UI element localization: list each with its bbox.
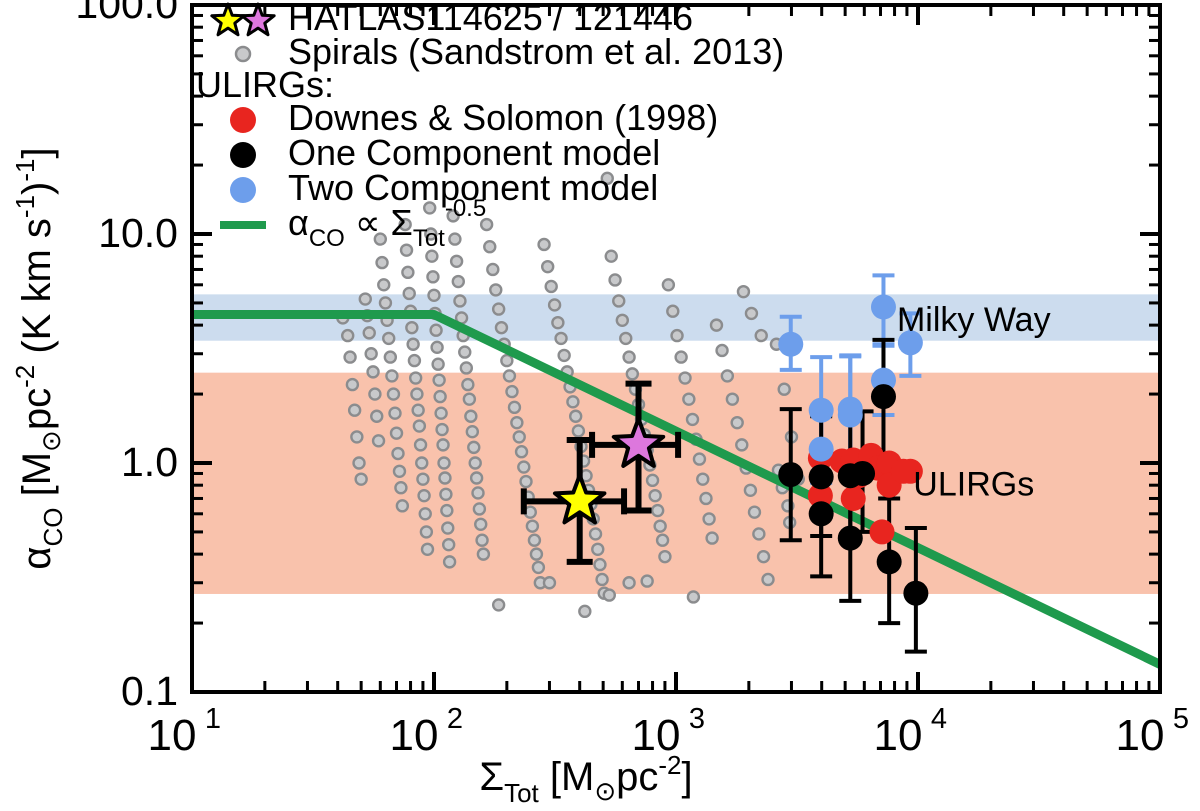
spiral-point	[606, 251, 617, 262]
y-tick-label: 0.1	[121, 668, 178, 714]
x-tick-label: 105	[1116, 703, 1190, 760]
spiral-point	[779, 384, 790, 395]
legend-star-magenta-icon	[242, 4, 274, 35]
spiral-point	[402, 267, 413, 278]
spiral-point	[610, 274, 621, 285]
spiral-point	[453, 276, 464, 287]
spiral-point	[487, 264, 498, 275]
spiral-point	[416, 458, 427, 469]
band-label-milky-way: Milky Way	[897, 301, 1051, 339]
spiral-point	[676, 352, 687, 363]
legend-circle-icon	[230, 142, 256, 168]
spiral-point	[345, 352, 356, 363]
data-point	[809, 437, 834, 462]
spiral-point	[700, 493, 711, 504]
spiral-point	[462, 379, 473, 390]
spiral-point	[360, 294, 371, 305]
spiral-point	[437, 424, 448, 435]
spiral-point	[470, 458, 481, 469]
spiral-point	[594, 559, 605, 570]
spiral-point	[395, 482, 406, 493]
spiral-point	[727, 394, 738, 405]
data-point	[903, 581, 928, 606]
spiral-point	[388, 389, 399, 400]
spiral-point	[493, 599, 504, 610]
spiral-point	[694, 454, 705, 465]
spiral-point	[401, 245, 412, 256]
spiral-point	[617, 315, 628, 326]
legend-circle-icon	[230, 177, 256, 203]
y-axis-title: αCO [M⊙pc-2 (K km s-1)-1]	[10, 147, 68, 569]
spiral-point	[620, 333, 631, 344]
spiral-point	[394, 466, 405, 477]
svg-text:2: 2	[447, 703, 463, 735]
spiral-point	[443, 539, 454, 550]
spiral-point	[415, 439, 426, 450]
spiral-point	[378, 279, 389, 290]
spiral-point	[518, 462, 529, 473]
spiral-point	[672, 330, 683, 341]
spiral-point	[732, 417, 743, 428]
spiral-point	[397, 500, 408, 511]
spiral-point	[552, 317, 563, 328]
data-point	[809, 398, 834, 423]
spiral-point	[763, 574, 774, 585]
spiral-point	[449, 234, 460, 245]
spiral-point	[655, 521, 666, 532]
spiral-point	[461, 362, 472, 373]
spiral-point	[368, 366, 379, 377]
spiral-point	[567, 396, 578, 407]
svg-text:4: 4	[931, 703, 947, 735]
svg-text:10: 10	[1116, 711, 1165, 760]
spiral-point	[683, 394, 694, 405]
spiral-point	[579, 606, 590, 617]
spiral-point	[468, 442, 479, 453]
spiral-point	[467, 426, 478, 437]
spiral-point	[531, 549, 542, 560]
spiral-point	[432, 342, 443, 353]
spiral-point	[473, 487, 484, 498]
spiral-point	[514, 431, 525, 442]
spiral-point	[431, 325, 442, 336]
spiral-point	[390, 408, 401, 419]
spiral-point	[647, 475, 658, 486]
spiral-point	[753, 528, 764, 539]
spiral-point	[501, 355, 512, 366]
data-point	[850, 461, 875, 486]
spiral-point	[454, 295, 465, 306]
spiral-point	[624, 352, 635, 363]
spiral-point	[490, 284, 501, 295]
spiral-point	[652, 505, 663, 516]
spiral-point	[746, 308, 757, 319]
spiral-point	[506, 386, 517, 397]
spiral-point	[516, 446, 527, 457]
spiral-point	[421, 526, 432, 537]
spiral-point	[573, 425, 584, 436]
data-point	[841, 486, 866, 511]
data-point	[809, 464, 834, 489]
spiral-point	[451, 256, 462, 267]
spiral-point	[496, 322, 507, 333]
spiral-point	[434, 375, 445, 386]
svg-text:10: 10	[148, 711, 197, 760]
svg-text:5: 5	[1173, 703, 1189, 735]
spiral-point	[650, 490, 661, 501]
spiral-point	[477, 535, 488, 546]
x-tick-label: 101	[148, 703, 222, 760]
data-point	[871, 294, 896, 319]
spiral-point	[687, 414, 698, 425]
spiral-point	[749, 507, 760, 518]
spiral-point	[422, 544, 433, 555]
spiral-point	[642, 576, 653, 587]
figure-root: Milky WayULIRGs 0.11.010.0100.0101102103…	[0, 0, 1200, 811]
spiral-point	[529, 535, 540, 546]
spiral-point	[433, 359, 444, 370]
spiral-point	[366, 348, 377, 359]
spiral-point	[511, 417, 522, 428]
data-point	[877, 549, 902, 574]
spiral-point	[420, 508, 431, 519]
svg-text:10: 10	[390, 711, 439, 760]
spiral-point	[464, 394, 475, 405]
spiral-point	[697, 474, 708, 485]
svg-text:3: 3	[689, 703, 705, 735]
spiral-point	[474, 503, 485, 514]
spiral-point	[342, 330, 353, 341]
svg-text:1: 1	[205, 703, 221, 735]
spiral-point	[559, 350, 570, 361]
spiral-point	[604, 590, 615, 601]
spiral-point	[351, 431, 362, 442]
spiral-point	[475, 519, 486, 530]
spiral-point	[393, 448, 404, 459]
data-point	[778, 462, 803, 487]
spiral-point	[409, 355, 420, 366]
spiral-point	[408, 339, 419, 350]
spiral-point	[688, 591, 699, 602]
spiral-point	[493, 304, 504, 315]
spiral-point	[354, 458, 365, 469]
spiral-point	[438, 439, 449, 450]
legend-circle-icon	[230, 107, 256, 133]
spiral-point	[663, 279, 674, 290]
spiral-point	[426, 251, 437, 262]
spiral-point	[427, 271, 438, 282]
spiral-point	[347, 379, 358, 390]
spiral-point	[533, 562, 544, 573]
spiral-point	[592, 544, 603, 555]
band-label-ulirgs: ULIRGs	[913, 466, 1034, 504]
legend-spiral-circle-icon	[236, 47, 250, 61]
spiral-point	[549, 299, 560, 310]
data-point	[838, 403, 863, 428]
spiral-point	[465, 411, 476, 422]
spiral-point	[442, 523, 453, 534]
y-tick-label: 100.0	[75, 0, 178, 27]
svg-text:10: 10	[874, 711, 923, 760]
spiral-point	[440, 489, 451, 500]
spiral-point	[613, 295, 624, 306]
legend-star-yellow-icon	[212, 4, 244, 35]
spiral-point	[471, 472, 482, 483]
spiral-point	[414, 421, 425, 432]
spiral-point	[439, 472, 450, 483]
y-tick-label: 1.0	[121, 439, 178, 485]
spiral-point	[570, 411, 581, 422]
spiral-point	[758, 551, 769, 562]
spiral-point	[410, 373, 421, 384]
spiral-point	[441, 505, 452, 516]
spiral-point	[627, 368, 638, 379]
spiral-point	[745, 485, 756, 496]
x-tick-label: 102	[390, 703, 464, 760]
spiral-point	[349, 405, 360, 416]
spiral-point	[756, 330, 767, 341]
spiral-point	[722, 370, 733, 381]
spiral-point	[556, 333, 567, 344]
spiral-point	[542, 261, 553, 272]
spiral-point	[386, 370, 397, 381]
y-tick-label: 10.0	[98, 210, 178, 256]
spiral-point	[377, 257, 388, 268]
spiral-point	[459, 347, 470, 358]
spiral-point	[597, 574, 608, 585]
spiral-point	[417, 474, 428, 485]
alpha-co-vs-sigma-tot-chart: Milky WayULIRGs 0.11.010.0100.0101102103…	[0, 0, 1200, 811]
spiral-point	[527, 521, 538, 532]
x-axis-title: ΣTot [M⊙pc-2]	[479, 750, 692, 808]
spiral-point	[717, 345, 728, 356]
data-point	[778, 332, 803, 357]
spiral-point	[509, 402, 520, 413]
spiral-point	[439, 458, 450, 469]
spiral-point	[411, 389, 422, 400]
spiral-point	[383, 333, 394, 344]
spiral-point	[371, 411, 382, 422]
legend[interactable]: HATLAS114625 / 121446Spirals (Sandstrom …	[196, 0, 784, 252]
spiral-point	[738, 286, 749, 297]
spiral-point	[667, 306, 678, 317]
spiral-point	[504, 370, 515, 381]
spiral-point	[435, 391, 446, 402]
data-point	[809, 501, 834, 526]
data-point	[870, 519, 895, 544]
spiral-point	[429, 290, 440, 301]
spiral-point	[478, 549, 489, 560]
spiral-point	[385, 352, 396, 363]
spiral-point	[373, 435, 384, 446]
data-point	[838, 526, 863, 551]
legend-label-spirals[interactable]: Spirals (Sandstrom et al. 2013)	[288, 31, 784, 72]
data-point	[891, 459, 916, 484]
spiral-point	[539, 239, 550, 250]
spiral-point	[657, 535, 668, 546]
spiral-point	[546, 281, 557, 292]
spiral-point	[704, 513, 715, 524]
spiral-point	[659, 551, 670, 562]
spiral-point	[380, 297, 391, 308]
spiral-point	[444, 556, 455, 567]
spiral-point	[590, 528, 601, 539]
spiral-point	[406, 322, 417, 333]
spiral-point	[436, 408, 447, 419]
spiral-point	[521, 476, 532, 487]
spiral-point	[707, 533, 718, 544]
spiral-point	[369, 389, 380, 400]
spiral-point	[404, 288, 415, 299]
data-point	[871, 384, 896, 409]
spiral-point	[624, 577, 635, 588]
spiral-point	[391, 428, 402, 439]
spiral-point	[711, 320, 722, 331]
spiral-point	[736, 439, 747, 450]
spiral-point	[356, 474, 367, 485]
spiral-point	[419, 490, 430, 501]
spiral-point	[680, 373, 691, 384]
spiral-point	[484, 241, 495, 252]
spiral-point	[413, 405, 424, 416]
spiral-point	[364, 327, 375, 338]
spiral-point	[544, 577, 555, 588]
x-tick-label: 104	[874, 703, 948, 760]
